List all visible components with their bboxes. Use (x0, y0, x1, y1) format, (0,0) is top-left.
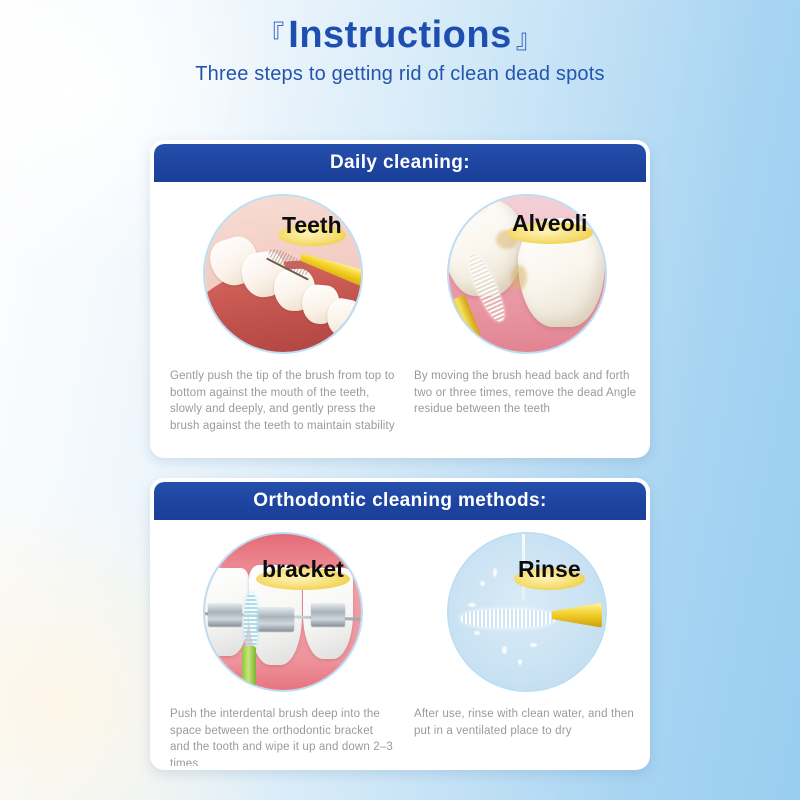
step-caption: After use, rinse with clean water, and t… (414, 706, 640, 739)
water-droplet-shape (502, 646, 507, 654)
orthodontic-bracket-shape (311, 603, 345, 626)
photo-wrap-rinse: Rinse (414, 532, 640, 692)
brush-bristles-shape (244, 593, 258, 652)
molar-crown-shape (451, 194, 488, 218)
page-title: Instructions (288, 16, 511, 56)
card-body-daily-cleaning: Teeth Gently push the tip of the brush f… (154, 182, 646, 445)
card-header-orthodontic-cleaning: Orthodontic cleaning methods: (154, 482, 646, 520)
card-header-label: Daily cleaning: (330, 152, 470, 174)
title-row: 『 Instructions 』 (0, 16, 800, 56)
card-header-label: Orthodontic cleaning methods: (253, 490, 546, 512)
step-rinse: Rinse After use, rinse with clean water,… (414, 532, 640, 770)
photo-label-text: Alveoli (512, 210, 587, 236)
card-orthodontic-cleaning: Orthodontic cleaning methods: (150, 478, 650, 770)
water-droplet-shape (518, 659, 522, 665)
water-droplet-shape (493, 568, 497, 577)
photo-label-rinse: Rinse (518, 558, 581, 581)
photo-wrap-alveoli: Alveoli (414, 194, 640, 354)
brush-handle-shape (242, 646, 256, 692)
water-droplet-shape (468, 603, 476, 607)
corner-bracket-open-icon: 『 (258, 22, 284, 48)
step-alveoli: Alveoli By moving the brush head back an… (414, 194, 640, 435)
step-caption: Gently push the tip of the brush from to… (170, 368, 396, 435)
step-bracket: bracket Push the interdental brush deep … (170, 532, 396, 770)
brush-handle-shape (552, 603, 602, 628)
corner-bracket-close-icon: 』 (516, 26, 542, 52)
card-header-daily-cleaning: Daily cleaning: (154, 144, 646, 182)
card-body-orthodontic-cleaning: bracket Push the interdental brush deep … (154, 520, 646, 770)
photo-label-text: Teeth (282, 212, 342, 238)
photo-label-bracket: bracket (262, 558, 344, 581)
orthodontic-bracket-shape (208, 603, 242, 626)
page-subtitle: Three steps to getting rid of clean dead… (0, 63, 800, 86)
step-caption: By moving the brush head back and forth … (414, 368, 640, 418)
water-droplet-shape (480, 581, 485, 586)
water-droplet-shape (474, 631, 480, 635)
photo-wrap-bracket: bracket (170, 532, 396, 692)
step-teeth: Teeth Gently push the tip of the brush f… (170, 194, 396, 435)
photo-label-text: bracket (262, 556, 344, 582)
photo-label-alveoli: Alveoli (512, 212, 587, 235)
card-daily-cleaning: Daily cleaning: (150, 140, 650, 458)
water-droplet-shape (530, 643, 537, 647)
infographic-page: 『 Instructions 』 Three steps to getting … (0, 0, 800, 800)
photo-label-text: Rinse (518, 556, 581, 582)
brush-bristles-shape (461, 609, 555, 628)
photo-wrap-teeth: Teeth (170, 194, 396, 354)
plaque-stain-shape (511, 265, 527, 290)
orthodontic-bracket-shape (256, 607, 293, 630)
step-caption: Push the interdental brush deep into the… (170, 706, 396, 770)
page-heading: 『 Instructions 』 Three steps to getting … (0, 16, 800, 86)
photo-label-teeth: Teeth (282, 214, 342, 237)
